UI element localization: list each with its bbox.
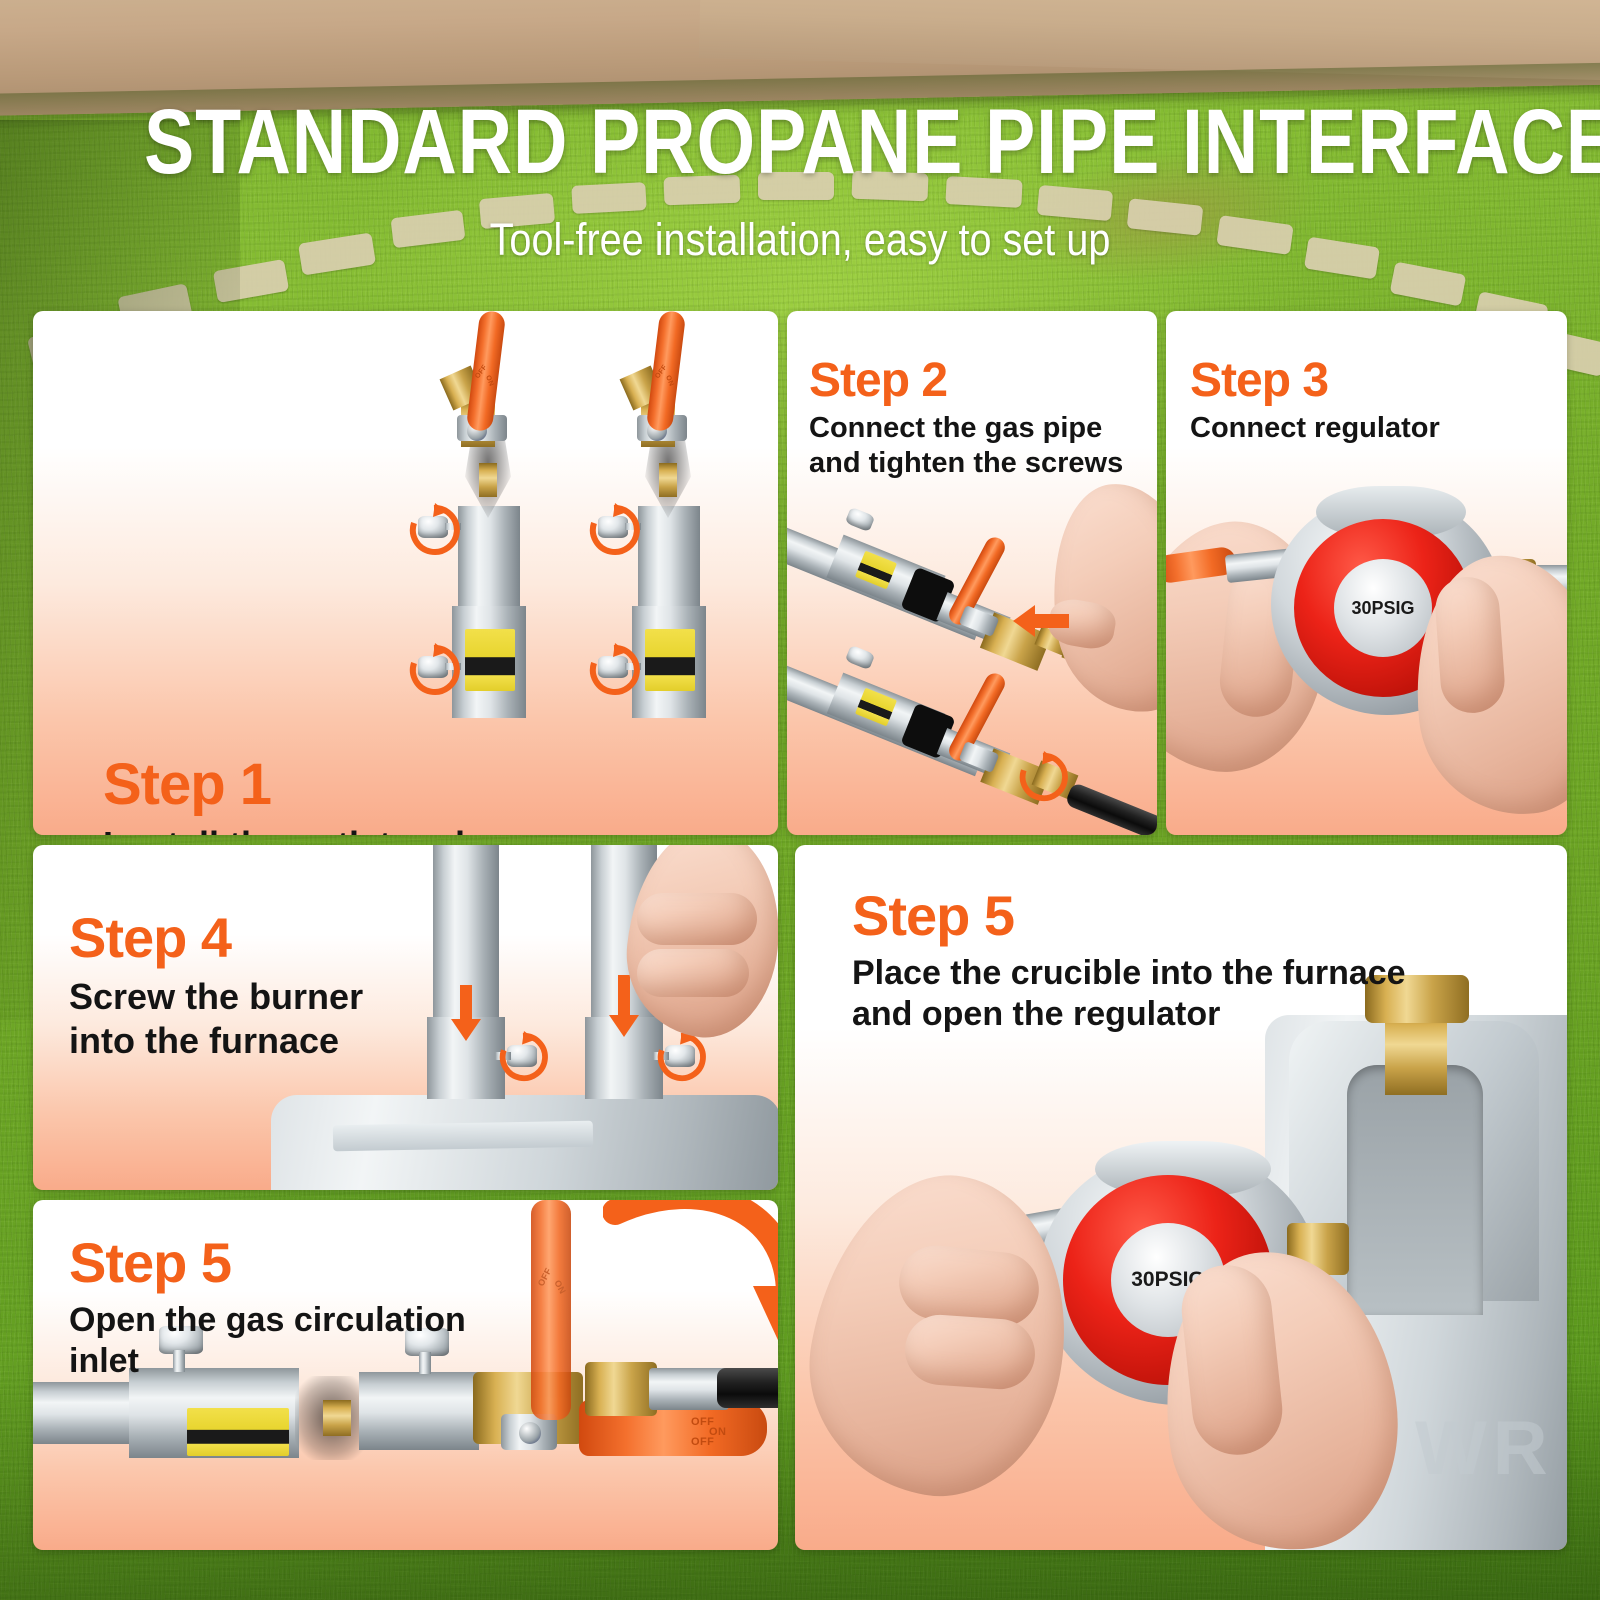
finger-right xyxy=(1433,575,1506,715)
gas-hose-lower xyxy=(1065,782,1157,835)
thumb-screw-lower xyxy=(845,645,875,671)
hand-upper xyxy=(1038,474,1157,723)
burner-jet xyxy=(323,1400,351,1436)
warning-label xyxy=(187,1408,289,1456)
step-1-label: Step 1 xyxy=(103,751,271,818)
photo-step-5-right: WR 30PSIG xyxy=(795,845,1567,1550)
warning-label-left xyxy=(465,629,515,691)
panel-step-5-left[interactable]: OFF ON OFF ON OFF Step 5 Open the gas ci… xyxy=(33,1200,778,1550)
step-1-description: Lnstall the outlet and Tighten the screw… xyxy=(103,823,465,835)
valve-on-label: ON xyxy=(664,374,675,387)
rotate-cw-icon xyxy=(405,503,463,557)
valve-off-label: OFF xyxy=(536,1266,554,1288)
rotate-cw-icon xyxy=(1015,751,1071,803)
warning-label-right xyxy=(645,629,695,691)
step-5-left-description: Open the gas circulation inlet xyxy=(69,1300,466,1383)
arrow-curve-down-icon xyxy=(603,1200,778,1376)
rotate-cw-icon xyxy=(495,1031,551,1083)
tank-collar-opening xyxy=(1347,1065,1483,1315)
header: STANDARD PROPANE PIPE INTERFACE Tool-fre… xyxy=(0,96,1600,266)
step-2-label: Step 2 xyxy=(809,353,947,408)
tank-brand-text: WR xyxy=(1415,1405,1565,1525)
panel-step-3[interactable]: 30PSIG Step 3 Connect regulator xyxy=(1166,311,1567,835)
burner-jet-right xyxy=(659,463,677,497)
valve-handle-left: OFF ON xyxy=(466,311,506,432)
rotate-cw-icon xyxy=(585,643,643,697)
panel-step-1[interactable]: OFF ON OFF ON xyxy=(33,311,778,835)
panel-step-2[interactable]: Step 2 Connect the gas pipe and tighten … xyxy=(787,311,1157,835)
valve-handle-closed: OFF ON xyxy=(531,1200,571,1420)
rotate-cw-icon xyxy=(405,643,463,697)
burner-sleeve xyxy=(359,1372,479,1450)
valve-on-label: ON xyxy=(552,1278,568,1295)
arrow-left-icon xyxy=(1013,603,1071,639)
panel-step-4[interactable]: Step 4 Screw the burner into the furnace xyxy=(33,845,778,1190)
valve-nut xyxy=(519,1422,541,1444)
panel-step-5-right[interactable]: WR 30PSIG Step 5 Place the crucible into… xyxy=(795,845,1567,1550)
step-5-right-label: Step 5 xyxy=(852,883,1014,948)
finger-left-2 xyxy=(903,1313,1038,1392)
step-4-description: Screw the burner into the furnace xyxy=(69,975,363,1063)
step-3-label: Step 3 xyxy=(1190,353,1328,408)
finger-2 xyxy=(637,949,749,997)
step-2-description: Connect the gas pipe and tighten the scr… xyxy=(809,411,1123,482)
finger-1 xyxy=(637,893,757,945)
step-5-right-description: Place the crucible into the furnace and … xyxy=(852,953,1406,1036)
step-4-label: Step 4 xyxy=(69,905,231,970)
valve-off-label-bottom: OFF xyxy=(691,1436,714,1448)
valve-handle-right: OFF ON xyxy=(646,311,686,432)
furnace-plate xyxy=(333,1121,593,1152)
valve-on-label: ON xyxy=(484,374,495,387)
step-3-description: Connect regulator xyxy=(1190,411,1440,446)
step-5-left-label: Step 5 xyxy=(69,1230,231,1295)
regulator-pressure-label: 30PSIG xyxy=(1351,598,1414,619)
page-title: STANDARD PROPANE PIPE INTERFACE xyxy=(144,96,1456,188)
page-subtitle: Tool-free installation, easy to set up xyxy=(96,214,1504,266)
burner-jet-left xyxy=(479,463,497,497)
thumb-screw-upper xyxy=(845,507,875,533)
arrow-down-icon xyxy=(451,985,481,1041)
regulator-pressure-dial: 30PSIG xyxy=(1334,559,1432,657)
rotate-cw-icon xyxy=(585,503,643,557)
rotate-cw-icon xyxy=(653,1031,709,1083)
